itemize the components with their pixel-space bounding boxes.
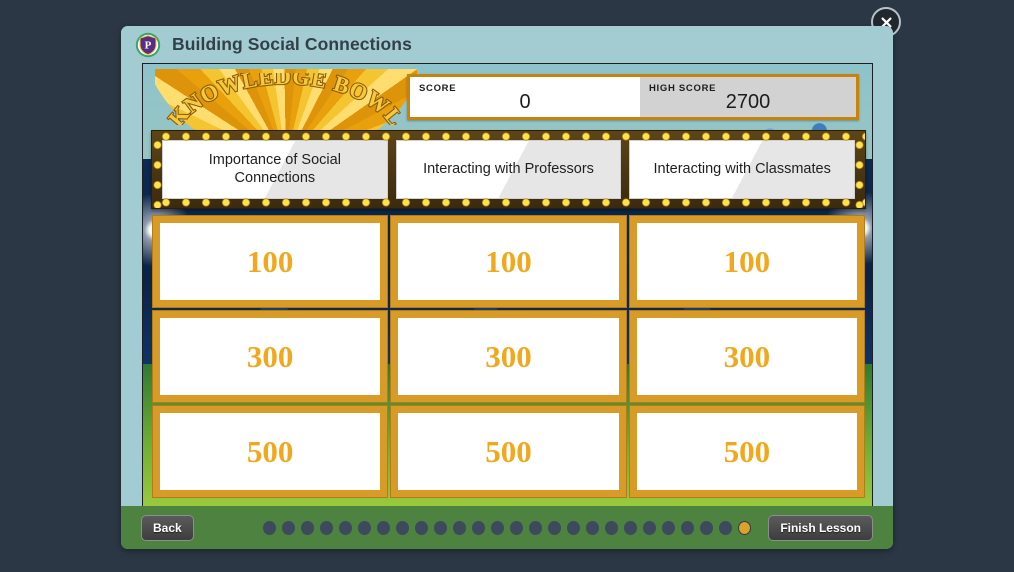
progress-dot[interactable] [491, 521, 504, 535]
knowledge-bowl-wordmark: KNOWLEDGE BOWL [155, 73, 417, 125]
progress-dot[interactable] [453, 521, 466, 535]
value-tile-c2-r2[interactable]: 300 [391, 311, 625, 402]
value-tile-c3-r1[interactable]: 100 [630, 216, 864, 307]
value-tile-c1-r3[interactable]: 500 [153, 406, 387, 497]
progress-dot[interactable] [529, 521, 542, 535]
category-header-1: Importance of Social Connections [162, 140, 388, 199]
progress-dot[interactable] [415, 521, 428, 535]
score-panel: SCORE 0 HIGH SCORE 2700 [407, 74, 859, 120]
progress-dot[interactable] [358, 521, 371, 535]
progress-dot[interactable] [548, 521, 561, 535]
tile-cell: 100 [389, 214, 627, 309]
tile-cell: 500 [389, 404, 627, 499]
tile-cell: 500 [151, 404, 389, 499]
marquee-bulbs-top-icon [152, 132, 865, 141]
value-tile-c1-r1[interactable]: 100 [153, 216, 387, 307]
progress-dot[interactable] [624, 521, 637, 535]
marquee-bulbs-bottom-icon [152, 198, 865, 207]
progress-dot[interactable] [282, 521, 295, 535]
progress-dot[interactable] [700, 521, 713, 535]
question-value-grid: 100 100 100 300 300 300 500 500 500 [151, 214, 866, 499]
marquee-bulbs-right-icon [855, 131, 864, 208]
progress-dot[interactable] [719, 521, 732, 535]
progress-dot-active[interactable] [738, 521, 751, 535]
tile-cell: 300 [151, 309, 389, 404]
progress-dot[interactable] [472, 521, 485, 535]
progress-dot[interactable] [662, 521, 675, 535]
progress-dot[interactable] [339, 521, 352, 535]
progress-dot[interactable] [377, 521, 390, 535]
tile-cell: 500 [628, 404, 866, 499]
finish-lesson-button[interactable]: Finish Lesson [768, 515, 873, 541]
progress-dot[interactable] [586, 521, 599, 535]
tile-cell: 300 [628, 309, 866, 404]
value-tile-c1-r2[interactable]: 300 [153, 311, 387, 402]
page-title: Building Social Connections [172, 34, 412, 55]
tile-cell: 300 [389, 309, 627, 404]
progress-dot[interactable] [567, 521, 580, 535]
game-stage: KNOWLEDGE BOWL SCORE 0 HIGH SCORE 2700 I… [142, 63, 873, 509]
marquee-bulbs-left-icon [153, 131, 162, 208]
value-tile-c2-r1[interactable]: 100 [391, 216, 625, 307]
lesson-modal: P Building Social Connections KNOWLEDGE … [121, 26, 893, 549]
progress-dot[interactable] [263, 521, 276, 535]
high-score-label: HIGH SCORE [649, 83, 716, 94]
progress-dot[interactable] [681, 521, 694, 535]
progress-dot[interactable] [510, 521, 523, 535]
svg-text:P: P [145, 39, 152, 51]
progress-dot[interactable] [396, 521, 409, 535]
value-tile-c3-r2[interactable]: 300 [630, 311, 864, 402]
progress-dot[interactable] [301, 521, 314, 535]
modal-header: P Building Social Connections [121, 26, 893, 63]
progress-dot[interactable] [434, 521, 447, 535]
tile-cell: 100 [628, 214, 866, 309]
modal-footer: Back Finish Lesson [121, 506, 893, 549]
progress-dot[interactable] [320, 521, 333, 535]
progress-dot[interactable] [643, 521, 656, 535]
category-header-3: Interacting with Classmates [629, 140, 855, 199]
score-cell: SCORE 0 [410, 77, 640, 117]
progress-dot[interactable] [605, 521, 618, 535]
value-tile-c3-r3[interactable]: 500 [630, 406, 864, 497]
purple-shield-p-logo-icon: P [135, 32, 161, 58]
category-header-2: Interacting with Professors [396, 140, 622, 199]
value-tile-c2-r3[interactable]: 500 [391, 406, 625, 497]
high-score-cell: HIGH SCORE 2700 [640, 77, 856, 117]
score-label: SCORE [419, 83, 456, 94]
category-marquee: Importance of Social Connections Interac… [151, 130, 866, 209]
knowledge-bowl-text: KNOWLEDGE BOWL [164, 73, 409, 125]
tile-cell: 100 [151, 214, 389, 309]
